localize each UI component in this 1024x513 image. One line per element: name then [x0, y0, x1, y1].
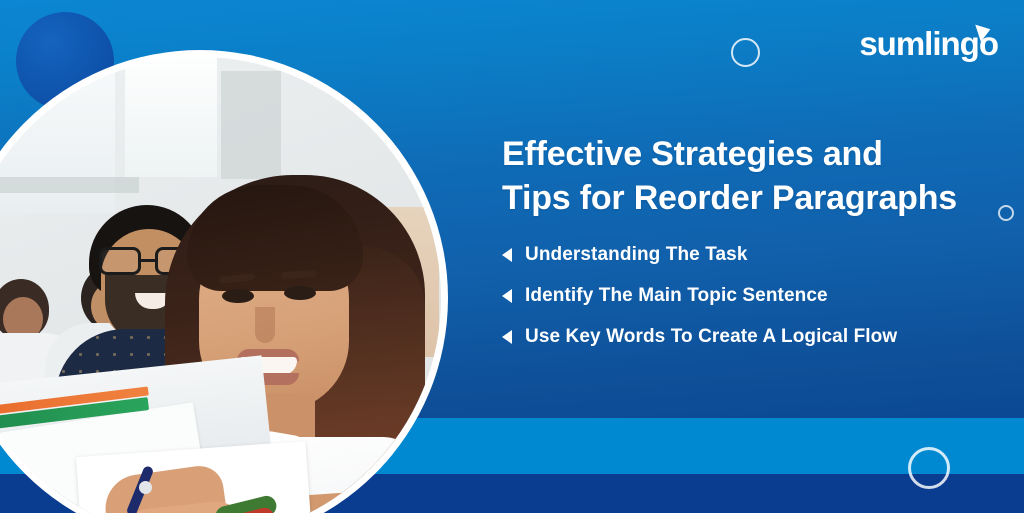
student-photo	[0, 50, 448, 513]
page-title-line-1: Effective Strategies and	[502, 132, 1012, 176]
female-student-nose	[255, 307, 275, 343]
banner-content: Effective Strategies and Tips for Reorde…	[502, 132, 1012, 367]
topic-list: Understanding The Task Identify The Main…	[502, 244, 1012, 348]
list-item: Use Key Words To Create A Logical Flow	[502, 326, 1012, 348]
left-triangle-icon	[502, 289, 512, 303]
classroom-shelf	[0, 177, 139, 193]
female-student-hair-front	[187, 185, 363, 291]
finger-ring	[139, 481, 152, 494]
list-item: Understanding The Task	[502, 244, 1012, 266]
page-title-line-2: Tips for Reorder Paragraphs	[502, 176, 1012, 220]
list-item: Identify The Main Topic Sentence	[502, 285, 1012, 307]
decor-ring-bottom	[908, 447, 950, 489]
decor-ring-top	[731, 38, 760, 67]
promo-banner: sumlingo Effective Strategies and Tips f…	[0, 0, 1024, 513]
list-item-label: Understanding The Task	[525, 244, 748, 266]
left-triangle-icon	[502, 248, 512, 262]
student-photo-image	[0, 57, 441, 513]
list-item-label: Identify The Main Topic Sentence	[525, 285, 828, 307]
female-student-eye-left	[222, 289, 254, 303]
female-student-eye-right	[284, 286, 316, 300]
left-triangle-icon	[502, 330, 512, 344]
list-item-label: Use Key Words To Create A Logical Flow	[525, 326, 897, 348]
brand-logo[interactable]: sumlingo	[859, 27, 998, 60]
classroom-window-right	[125, 57, 217, 177]
page-title: Effective Strategies and Tips for Reorde…	[502, 132, 1012, 220]
classroom-wall-panel	[221, 71, 281, 179]
